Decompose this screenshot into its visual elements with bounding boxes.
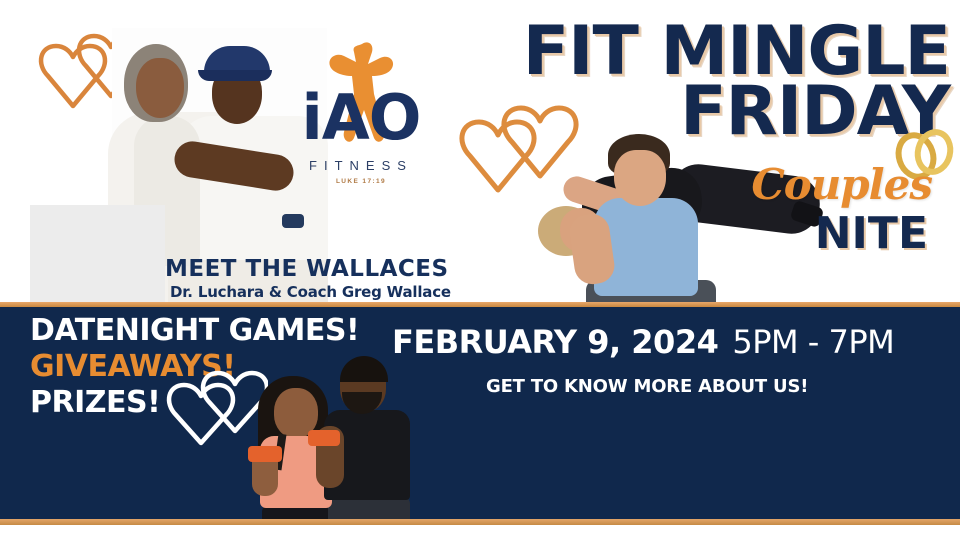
photo-couple-dumbbells [246, 348, 416, 520]
fit-mingle-friday-flyer: Valentine's Day iAO FITNESS LUKE 17:19 F… [0, 0, 960, 540]
photo-couple-fitness-lift [520, 128, 820, 305]
flyer-bottom-section: DATENIGHT GAMES! GIVEAWAYS! PRIZES! [0, 305, 960, 520]
feature-item-prizes: PRIZES! [30, 388, 160, 418]
divider-top [0, 302, 960, 307]
logo-subtitle: FITNESS [286, 158, 436, 173]
feature-item-datenight-games: DATENIGHT GAMES! [30, 316, 359, 346]
logo-wordmark: iAO [286, 82, 436, 154]
event-datetime: FEBRUARY 9, 20245PM - 7PM [392, 323, 894, 361]
event-time: 5PM - 7PM [732, 323, 894, 361]
divider-bottom [0, 519, 960, 525]
event-date: FEBRUARY 9, 2024 [392, 323, 718, 361]
subhead-script: Couples [751, 160, 932, 209]
hosts-title: MEET THE WALLACES [165, 256, 449, 282]
footer-margin [0, 525, 960, 540]
hosts-names: Dr. Luchara & Coach Greg Wallace [170, 283, 451, 301]
valentines-day-badge: Valentine's Day [30, 205, 165, 305]
event-tagline: GET TO KNOW MORE ABOUT US! [486, 376, 808, 397]
flyer-top-section: Valentine's Day iAO FITNESS LUKE 17:19 F… [0, 0, 960, 305]
logo-bible-verse: LUKE 17:19 [286, 178, 436, 185]
subhead-block: NITE [815, 208, 928, 259]
iao-fitness-logo: iAO FITNESS LUKE 17:19 [286, 36, 436, 181]
